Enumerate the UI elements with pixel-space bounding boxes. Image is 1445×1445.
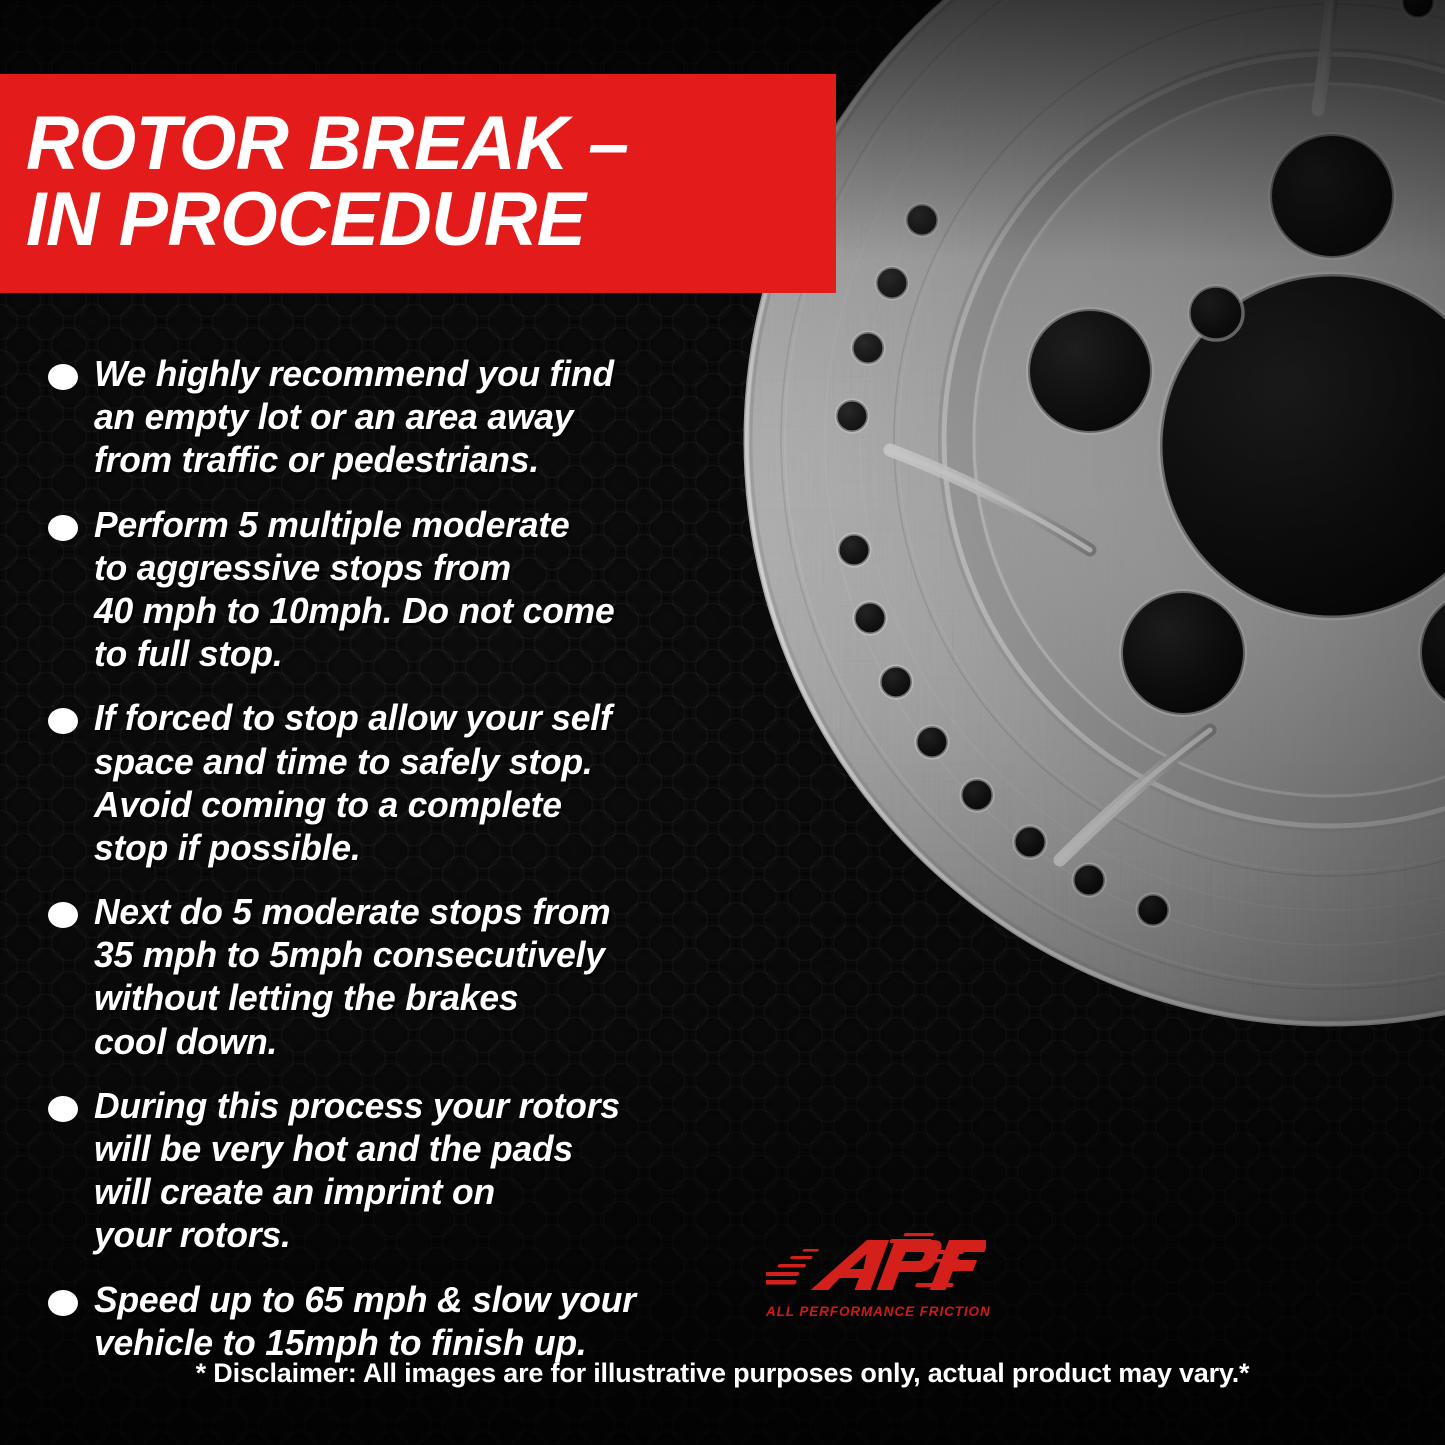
list-item-text: If forced to stop allow your self space … bbox=[94, 696, 612, 869]
list-item-text: We highly recommend you find an empty lo… bbox=[94, 352, 614, 482]
list-item: Speed up to 65 mph & slow your vehicle t… bbox=[48, 1278, 768, 1364]
bullet-dot-icon bbox=[48, 708, 78, 734]
procedure-steps-list: We highly recommend you find an empty lo… bbox=[48, 352, 768, 1385]
poster-root: ROTOR BREAK – IN PROCEDURE We highly rec… bbox=[0, 0, 1445, 1445]
apf-logo-mark bbox=[766, 1228, 986, 1302]
bullet-dot-icon bbox=[48, 364, 78, 390]
list-item: Next do 5 moderate stops from 35 mph to … bbox=[48, 890, 768, 1063]
list-item: Perform 5 multiple moderate to aggressiv… bbox=[48, 503, 768, 676]
list-item: We highly recommend you find an empty lo… bbox=[48, 352, 768, 482]
list-item-text: Perform 5 multiple moderate to aggressiv… bbox=[94, 503, 615, 676]
list-item: If forced to stop allow your self space … bbox=[48, 696, 768, 869]
bullet-dot-icon bbox=[48, 1290, 78, 1316]
disclaimer-text: * Disclaimer: All images are for illustr… bbox=[0, 1358, 1445, 1389]
headline-line-2: IN PROCEDURE bbox=[26, 182, 812, 257]
bullet-dot-icon bbox=[48, 1096, 78, 1122]
list-item-text: Next do 5 moderate stops from 35 mph to … bbox=[94, 890, 610, 1063]
bullet-dot-icon bbox=[48, 902, 78, 928]
list-item-text: Speed up to 65 mph & slow your vehicle t… bbox=[94, 1278, 636, 1364]
apf-logo-tagline: ALL PERFORMANCE FRICTION bbox=[766, 1304, 986, 1319]
list-item: During this process your rotors will be … bbox=[48, 1084, 768, 1257]
apf-logo: ALL PERFORMANCE FRICTION bbox=[766, 1228, 986, 1334]
bullet-dot-icon bbox=[48, 515, 78, 541]
headline-banner: ROTOR BREAK – IN PROCEDURE bbox=[0, 74, 836, 293]
headline-line-1: ROTOR BREAK – bbox=[26, 106, 812, 181]
list-item-text: During this process your rotors will be … bbox=[94, 1084, 620, 1257]
